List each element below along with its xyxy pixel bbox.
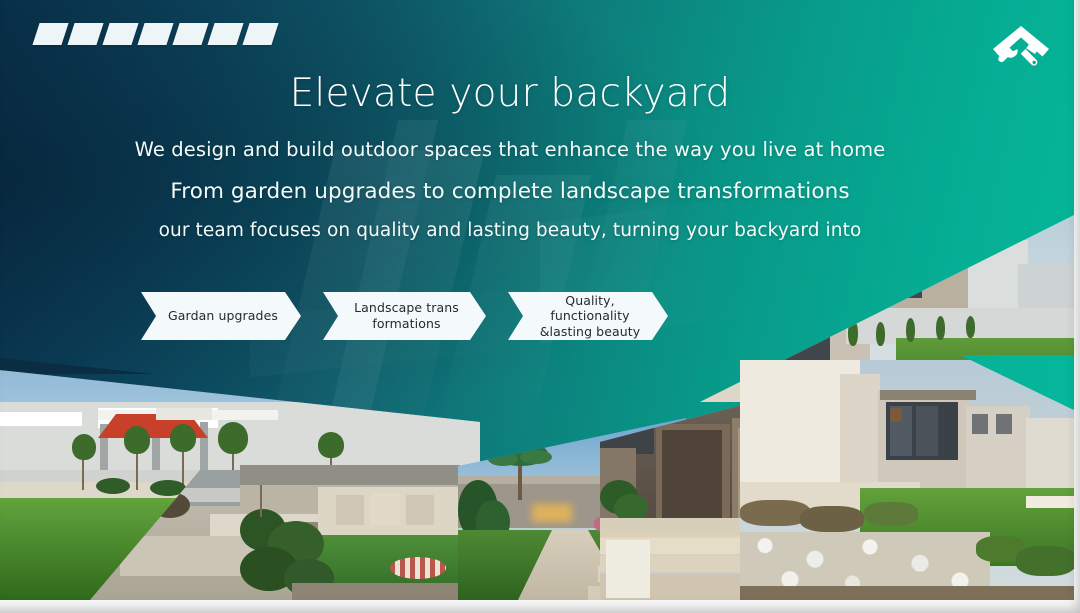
chevron-label-line1: Gardan upgrades	[168, 308, 278, 324]
chevron-label-line1: Landscape trans	[354, 300, 459, 316]
dash-segment	[102, 23, 138, 45]
chevron-quality-functionality[interactable]: Quality, functionality &lasting beauty	[508, 292, 668, 340]
chevron-label-line2: &lasting beauty	[534, 324, 646, 340]
subtext-line-2: From garden upgrades to complete landsca…	[0, 179, 1020, 204]
chevron-garden-upgrades[interactable]: Gardan upgrades	[141, 292, 301, 340]
slide-canvas: Elevate your backyard We design and buil…	[0, 0, 1080, 613]
bottom-margin	[0, 600, 1080, 613]
navy-diagonal-sliver	[0, 358, 500, 374]
chevron-label-line1: Quality, functionality	[534, 293, 646, 324]
dash-segment	[242, 23, 278, 45]
subtext-line-3: our team focuses on quality and lasting …	[0, 220, 1020, 241]
photo-garden-bbq-area	[240, 465, 460, 600]
chevron-row: Gardan upgrades Landscape trans formatio…	[141, 292, 668, 340]
dash-segment	[32, 23, 68, 45]
slanted-dash-bar	[36, 23, 275, 45]
dash-segment	[172, 23, 208, 45]
dash-segment	[207, 23, 243, 45]
dash-segment	[137, 23, 173, 45]
page-title: Elevate your backyard	[0, 74, 1020, 115]
photo-villa-lawn-pergola	[740, 360, 1080, 600]
chevron-landscape-transformations[interactable]: Landscape trans formations	[323, 292, 486, 340]
right-margin	[1074, 0, 1080, 613]
house-tools-icon	[988, 16, 1054, 74]
dash-segment	[67, 23, 103, 45]
chevron-label-line2: formations	[354, 316, 459, 332]
subtext-block: We design and build outdoor spaces that …	[0, 138, 1020, 241]
subtext-line-1: We design and build outdoor spaces that …	[0, 138, 1020, 161]
headline-block: Elevate your backyard We design and buil…	[0, 74, 1020, 241]
